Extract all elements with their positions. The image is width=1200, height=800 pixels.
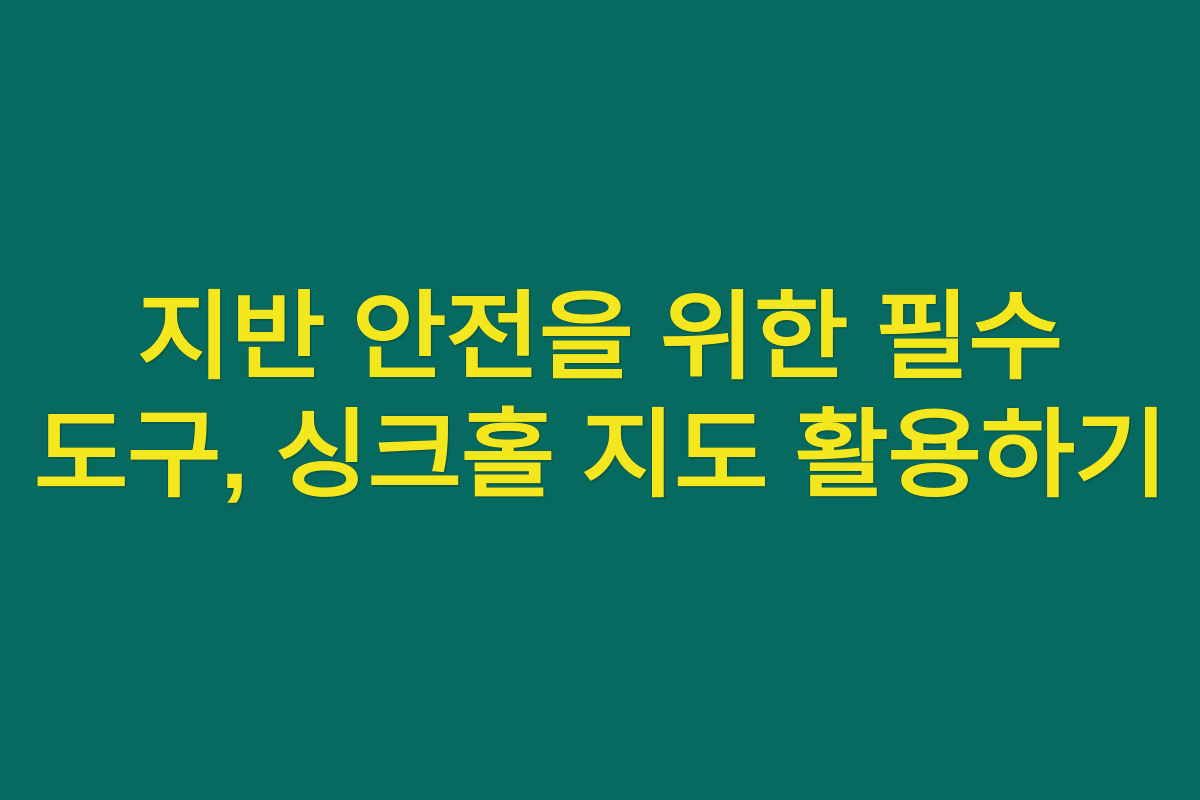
headline-line-2: 도구, 싱크홀 지도 활용하기	[34, 408, 1167, 504]
headline-block: 지반 안전을 위한 필수 도구, 싱크홀 지도 활용하기	[0, 290, 1200, 504]
headline-line-1: 지반 안전을 위한 필수	[138, 290, 1063, 386]
thumbnail-canvas: 지반 안전을 위한 필수 도구, 싱크홀 지도 활용하기	[0, 0, 1200, 800]
